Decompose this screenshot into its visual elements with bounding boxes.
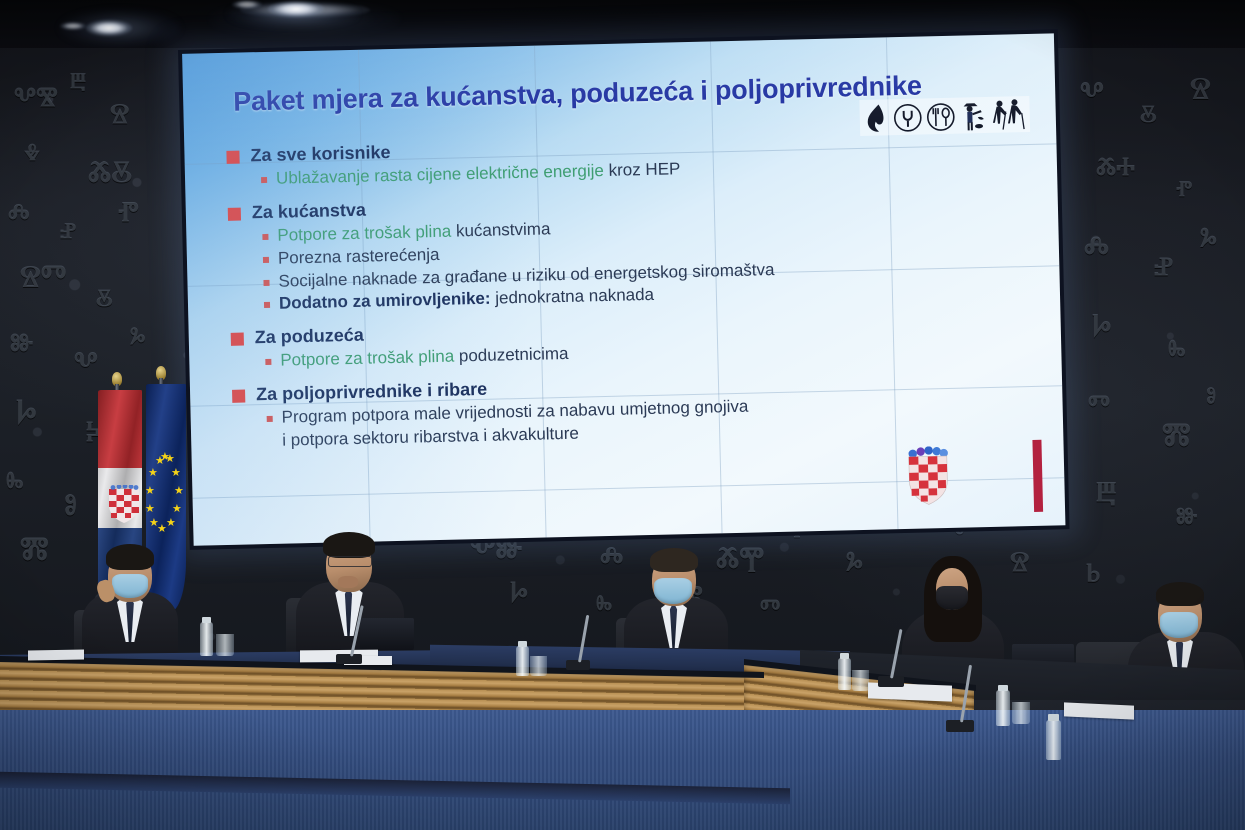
electric-plug-icon — [892, 102, 923, 133]
table-monitor-1 — [360, 618, 414, 650]
water-bottle-2 — [516, 646, 529, 676]
hair — [1156, 582, 1204, 606]
red-square-bullet — [231, 333, 244, 346]
water-bottle-1 — [200, 622, 213, 656]
ceiling-spotlight-1 — [86, 20, 132, 36]
red-dot-bullet — [267, 416, 273, 422]
press-conference-scene: ⰂⰊ Ⰱ Ⱄ Ⰷ ⰆⰋ Ⰾ Ⱀ Ⱂ ⰔⰕ Ⰻ Ⱆ Ⰲ Ⰳ Ⱈ ⰍⰎ Ⰸ Ⱁ Ⱃ … — [0, 0, 1245, 830]
ceiling-spotlight-1b — [60, 22, 86, 30]
slide-surface: Paket mjera za kućanstva, poduzeća i pol… — [182, 33, 1065, 545]
hair — [650, 548, 698, 572]
red-square-bullet — [226, 151, 239, 164]
slide-icon-strip — [859, 96, 1030, 136]
glasses — [328, 556, 372, 567]
bottle-cap-3 — [840, 653, 849, 659]
mouth-area — [338, 576, 358, 588]
red-dot-bullet — [264, 302, 270, 308]
farmer-sowing-icon — [958, 99, 989, 132]
red-dot-bullet — [263, 280, 269, 286]
microphone-base-1 — [336, 654, 362, 664]
water-glass-3 — [852, 670, 869, 691]
face-mask — [936, 586, 968, 610]
papers-1 — [28, 650, 84, 661]
red-dot-bullet — [265, 359, 271, 365]
face-mask — [112, 574, 148, 598]
water-glass-2 — [530, 656, 547, 676]
croatian-coat-of-arms — [904, 446, 953, 507]
water-glass-1 — [216, 634, 234, 656]
official-1-left — [78, 540, 188, 670]
red-dot-bullet — [261, 177, 267, 183]
red-dot-bullet — [263, 257, 269, 263]
slide-red-accent-bar — [1032, 440, 1043, 512]
water-bottle-5 — [1046, 720, 1061, 760]
ceiling-spotlight-3b — [232, 0, 262, 9]
croatian-flag-crest — [107, 485, 141, 525]
red-square-bullet — [232, 390, 245, 403]
red-square-bullet — [228, 208, 241, 221]
face-mask — [654, 578, 692, 604]
water-bottle-4 — [996, 690, 1010, 726]
red-dot-bullet — [262, 234, 268, 240]
water-glass-4 — [1012, 702, 1030, 724]
bottle-cap-5 — [1048, 714, 1059, 721]
hair — [323, 532, 375, 558]
presentation-video-wall[interactable]: Paket mjera za kućanstva, poduzeća i pol… — [178, 29, 1070, 550]
slide-bullet-list: Za sve korisnike Ublažavanje rasta cijen… — [226, 127, 1037, 453]
face-mask — [1160, 612, 1198, 638]
ceiling-spotlight-3 — [268, 1, 324, 17]
hair — [106, 544, 154, 570]
bottle-cap-2 — [518, 641, 527, 647]
bottle-cap-4 — [998, 685, 1008, 691]
fork-spoon-icon — [925, 102, 956, 133]
flame-icon — [863, 103, 890, 134]
water-bottle-3 — [838, 658, 851, 690]
bottle-cap-1 — [202, 617, 211, 623]
elderly-people-icon — [991, 98, 1026, 131]
